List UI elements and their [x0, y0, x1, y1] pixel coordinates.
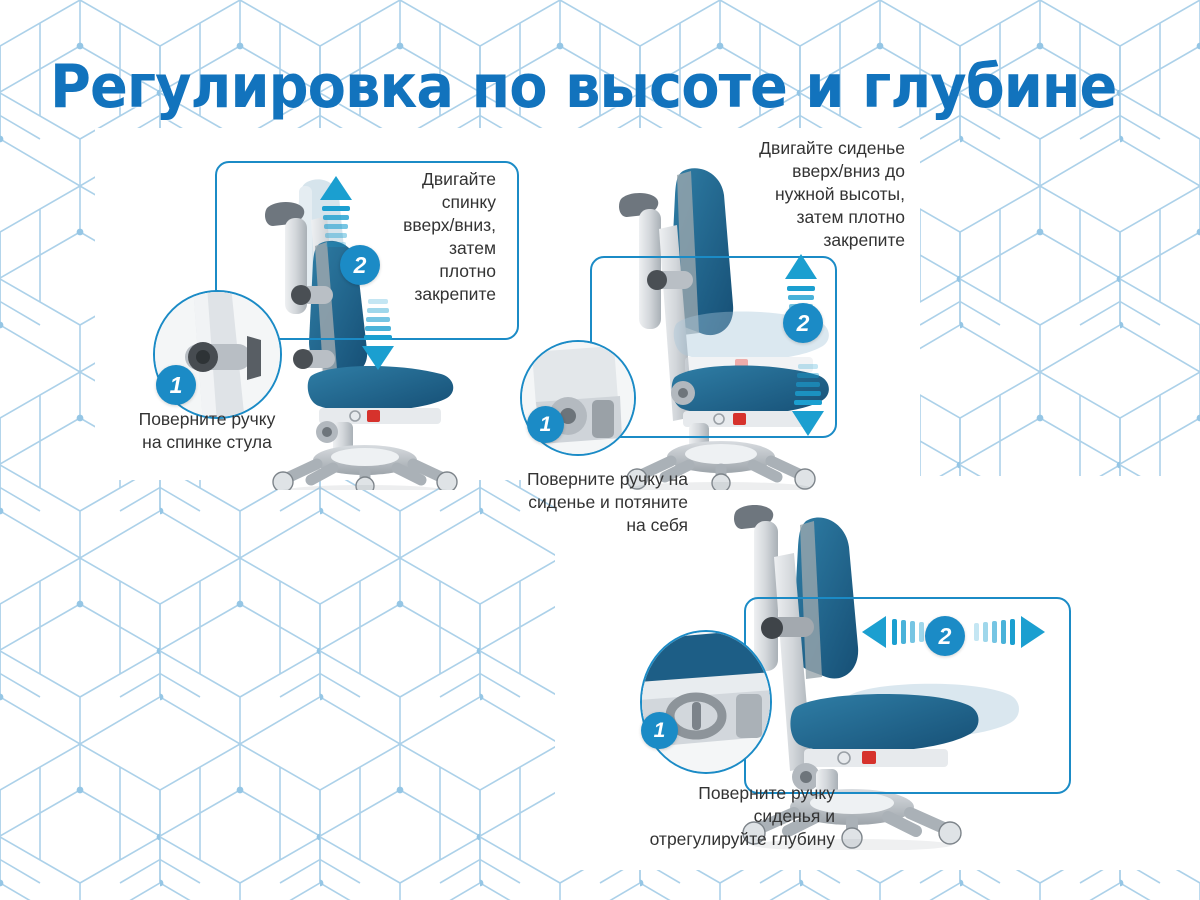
step-badge-2-panel3: 2 [925, 616, 965, 656]
instruction-seat-height: Двигайте сиденье вверх/вниз до нужной вы… [700, 137, 905, 252]
caption-seat-depth-knob: Поверните ручку сиденья и отрегулируйте … [545, 782, 835, 851]
step-badge-2-panel1: 2 [340, 245, 380, 285]
magnifier-seat-depth-knob [640, 630, 772, 774]
step-badge-2-panel2: 2 [783, 303, 823, 343]
caption-seat-lever: Поверните ручку на сиденье и потяните на… [473, 468, 688, 537]
step-badge-1-panel2: 1 [527, 406, 564, 443]
page-title: Регулировка по высоте и глубине [50, 56, 1116, 118]
caption-backrest-knob: Поверните ручку на спинке стула [96, 408, 318, 454]
arrow-down-seat [790, 350, 826, 436]
instruction-backrest-height: Двигайте спинку вверх/вниз, затем плотно… [366, 168, 496, 306]
arrow-down-backrest [360, 290, 396, 370]
step-badge-1-panel1: 1 [156, 365, 196, 405]
arrow-right-seat-depth [963, 612, 1045, 652]
step-badge-1-panel3: 1 [641, 712, 678, 749]
arrow-up-backrest [318, 176, 354, 256]
